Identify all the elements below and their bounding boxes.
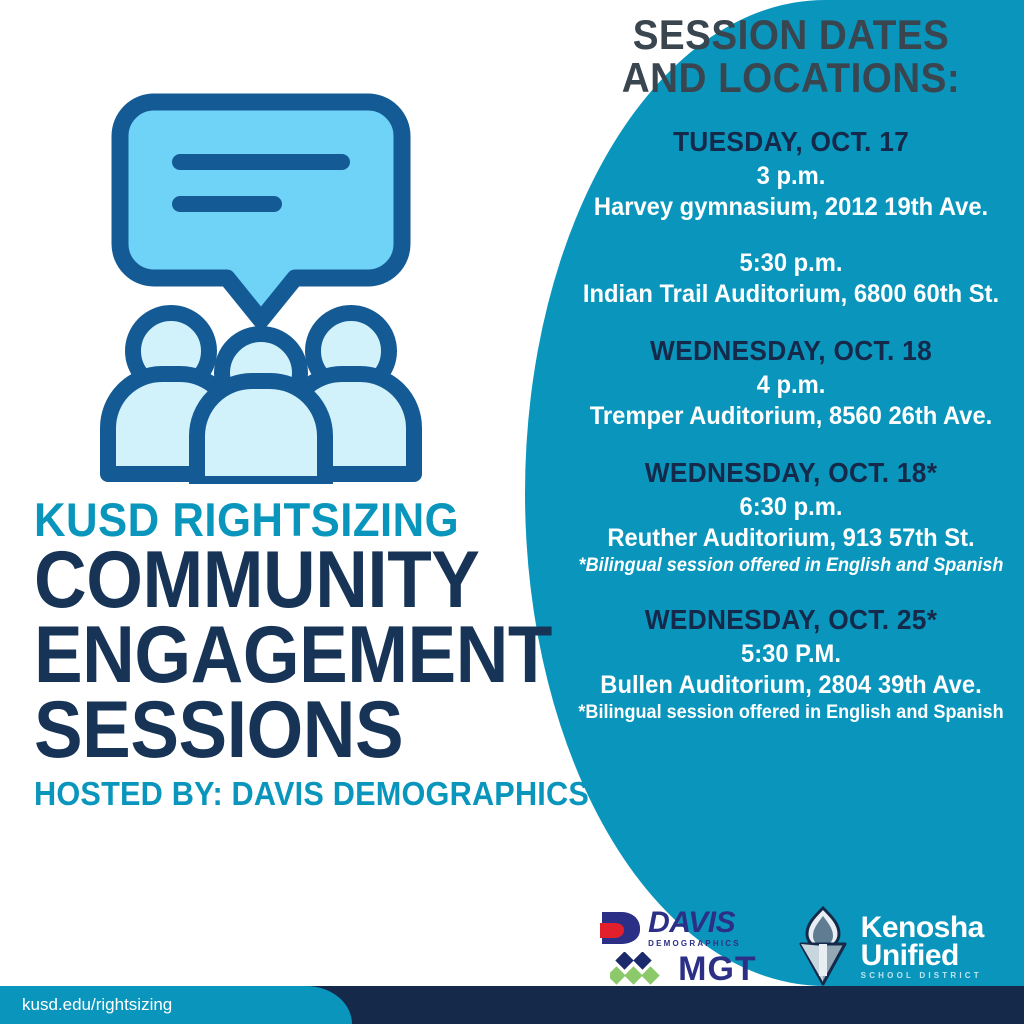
session-location: Tremper Auditorium, 8560 26th Ave. bbox=[577, 401, 1005, 431]
session-time: 5:30 P.M. bbox=[577, 639, 1005, 669]
session-location: Bullen Auditorium, 2804 39th Ave. bbox=[577, 670, 1005, 700]
kenosha-logo-subtitle: SCHOOL DISTRICT bbox=[861, 972, 984, 979]
session-date: WEDNESDAY, OCT. 25* bbox=[580, 604, 1003, 636]
kenosha-logo-line-2: Unified bbox=[861, 942, 984, 970]
mgt-logo-name: MGT bbox=[678, 952, 757, 986]
davis-demographics-logo: DAVIS DEMOGRAPHICS bbox=[598, 908, 757, 948]
session-time: 5:30 p.m. bbox=[577, 248, 1005, 278]
poster-canvas: KUSD RIGHTSIZING COMMUNITY ENGAGEMENT SE… bbox=[0, 0, 1024, 1024]
davis-logo-subtitle: DEMOGRAPHICS bbox=[648, 940, 741, 948]
session-date: WEDNESDAY, OCT. 18* bbox=[580, 457, 1003, 489]
mgt-logo: MGT bbox=[598, 952, 757, 986]
session-date: TUESDAY, OCT. 17 bbox=[580, 126, 1003, 158]
davis-logo-name: DAVIS bbox=[648, 908, 741, 938]
session-item: WEDNESDAY, OCT. 18 4 p.m. Tremper Audito… bbox=[566, 335, 1016, 431]
kenosha-unified-logo: Kenosha Unified SCHOOL DISTRICT bbox=[793, 906, 984, 988]
davis-d-mark-icon bbox=[598, 909, 642, 947]
footer-bar: kusd.edu/rightsizing bbox=[0, 986, 1024, 1024]
title-line-3: SESSIONS bbox=[34, 694, 484, 767]
session-time: 3 p.m. bbox=[577, 161, 1005, 191]
kenosha-logo-line-1: Kenosha bbox=[861, 914, 984, 942]
session-date: WEDNESDAY, OCT. 18 bbox=[580, 335, 1003, 367]
mgt-diamonds-icon bbox=[610, 952, 670, 986]
session-item: 5:30 p.m. Indian Trail Auditorium, 6800 … bbox=[566, 248, 1016, 309]
session-note: *Bilingual session offered in English an… bbox=[577, 555, 1005, 578]
page-title-block: KUSD RIGHTSIZING COMMUNITY ENGAGEMENT SE… bbox=[34, 497, 534, 810]
community-discussion-icon bbox=[96, 92, 426, 484]
footer-url[interactable]: kusd.edu/rightsizing bbox=[22, 986, 172, 1024]
session-location: Indian Trail Auditorium, 6800 60th St. bbox=[577, 279, 1005, 309]
torch-flame-icon bbox=[793, 906, 853, 988]
session-item: TUESDAY, OCT. 17 3 p.m. Harvey gymnasium… bbox=[566, 126, 1016, 222]
partner-logos: DAVIS DEMOGRAPHICS MGT bbox=[598, 908, 757, 986]
panel-heading-line-1: SESSION DATES bbox=[584, 14, 998, 57]
logo-row: DAVIS DEMOGRAPHICS MGT bbox=[566, 901, 1016, 993]
hosted-by-label: HOSTED BY: DAVIS DEMOGRAPHICS - MGT bbox=[34, 777, 499, 810]
session-time: 6:30 p.m. bbox=[577, 492, 1005, 522]
title-line-1: COMMUNITY bbox=[34, 544, 484, 617]
session-item: WEDNESDAY, OCT. 18* 6:30 p.m. Reuther Au… bbox=[566, 457, 1016, 578]
session-time: 4 p.m. bbox=[577, 370, 1005, 400]
title-line-2: ENGAGEMENT bbox=[34, 619, 484, 692]
session-note: *Bilingual session offered in English an… bbox=[577, 702, 1005, 725]
session-item: WEDNESDAY, OCT. 25* 5:30 P.M. Bullen Aud… bbox=[566, 604, 1016, 725]
panel-heading-line-2: AND LOCATIONS: bbox=[584, 57, 998, 100]
sessions-list: SESSION DATES AND LOCATIONS: TUESDAY, OC… bbox=[566, 14, 1016, 725]
session-location: Reuther Auditorium, 913 57th St. bbox=[577, 523, 1005, 553]
session-location: Harvey gymnasium, 2012 19th Ave. bbox=[577, 192, 1005, 222]
